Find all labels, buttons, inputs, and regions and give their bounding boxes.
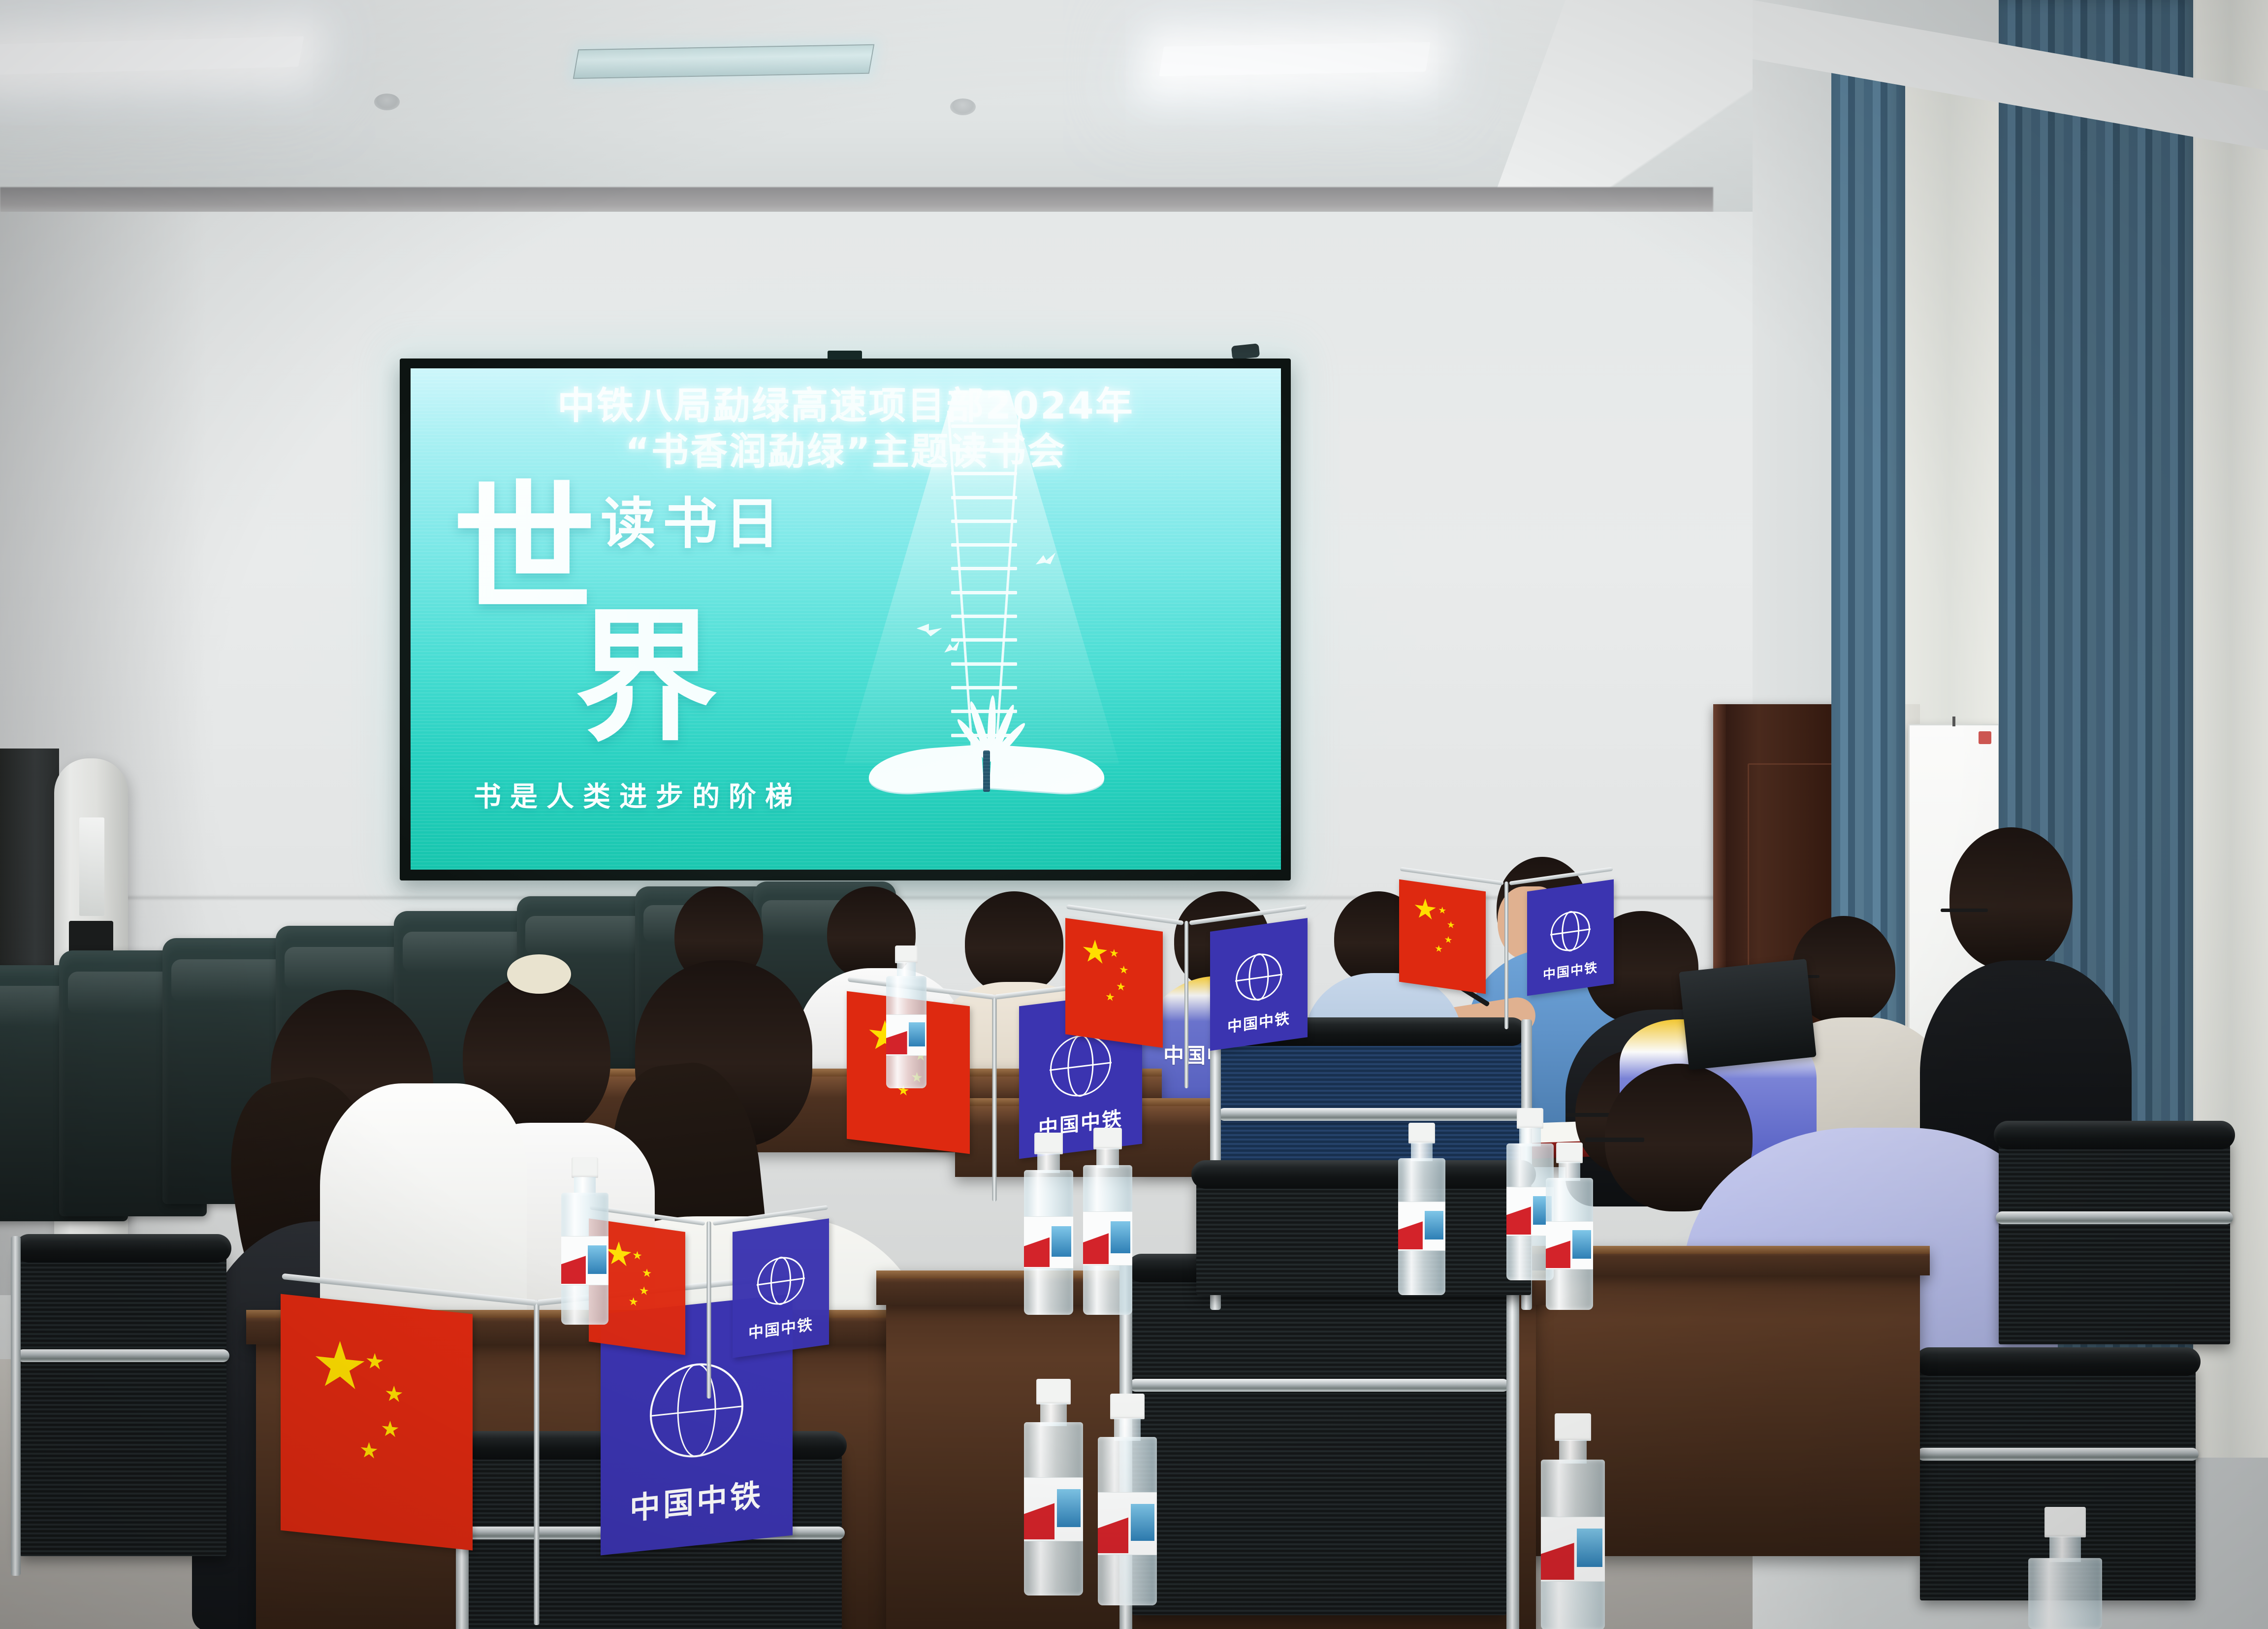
desk-flag-set: ★ ★ ★ ★ ★ 中国中铁 [1393,881,1620,1029]
water-bottle[interactable] [1098,1394,1157,1605]
slide-title-small: 读书日 [601,496,787,552]
flag-china: ★ ★ ★ ★ ★ [1399,880,1486,994]
hair-scrunchie [507,954,571,994]
conference-chair[interactable] [1196,1177,1531,1295]
water-bottle[interactable] [1083,1128,1132,1315]
board-seal-icon [1979,731,1991,744]
water-bottle[interactable] [561,1157,608,1325]
desk-flag-set: ★ ★ ★ ★ ★ 中国中铁 [1058,921,1314,1088]
water-bottle[interactable] [1541,1413,1605,1629]
slide-subtitle: 书是人类进步的阶梯 [474,775,801,814]
open-book-graphic [868,693,1105,792]
slide-title-block: 世 读书日 界 [453,479,817,754]
led-video-wall[interactable]: 中铁八局勐绿高速项目部2024年 “书香润勐绿”主题读书会 [400,358,1291,880]
water-bottle[interactable] [1398,1123,1445,1295]
flag-label: 中国中铁 [733,1310,829,1346]
flag-china: ★ ★ ★ ★ ★ [281,1294,473,1551]
tablet-device[interactable] [1679,959,1816,1070]
slide-header: 中铁八局勐绿高速项目部2024年 “书香润勐绿”主题读书会 [411,383,1281,474]
water-bottle[interactable] [1024,1379,1083,1596]
ceiling-microphone-icon [1231,343,1260,360]
ceiling-panel-light [1159,42,1430,76]
head [1949,827,2073,970]
slide-title-char-1: 世 [453,479,596,621]
presentation-slide: 中铁八局勐绿高速项目部2024年 “书香润勐绿”主题读书会 [411,368,1281,870]
glasses-icon [1585,1138,1644,1142]
ac-display-panel [79,817,104,916]
glasses-icon [1941,909,1988,912]
conference-room-photo: 中铁八局勐绿高速项目部2024年 “书香润勐绿”主题读书会 [0,0,2268,1629]
board-hook-icon [1952,717,1955,726]
flag-label: 中国中铁 [601,1467,793,1531]
flag-label: 中国中铁 [1210,1004,1308,1039]
flag-label: 中国中铁 [1527,955,1614,985]
ceiling-air-vent [573,44,875,79]
slide-title-char-2: 界 [575,606,718,749]
flag-china-railway: 中国中铁 [1527,880,1614,996]
flag-china: ★ ★ ★ ★ ★ [1065,918,1163,1048]
conference-chair[interactable] [1999,1138,2230,1344]
head [965,891,1063,995]
water-bottle[interactable] [1024,1133,1073,1315]
slide-header-line1: 中铁八局勐绿高速项目部2024年 [411,383,1281,429]
flag-china-railway: 中国中铁 [733,1218,829,1358]
water-bottle[interactable] [2028,1507,2102,1629]
downlight-icon [374,94,400,110]
water-bottle[interactable] [886,945,926,1088]
flag-china-railway: 中国中铁 [1210,918,1308,1051]
conference-chair[interactable] [1132,1271,1506,1615]
water-bottle[interactable] [1546,1142,1593,1310]
conference-chair[interactable] [20,1251,226,1556]
downlight-icon [950,98,976,115]
desk-flag-set: ★ ★ ★ ★ ★ 中国中铁 [581,1221,837,1399]
